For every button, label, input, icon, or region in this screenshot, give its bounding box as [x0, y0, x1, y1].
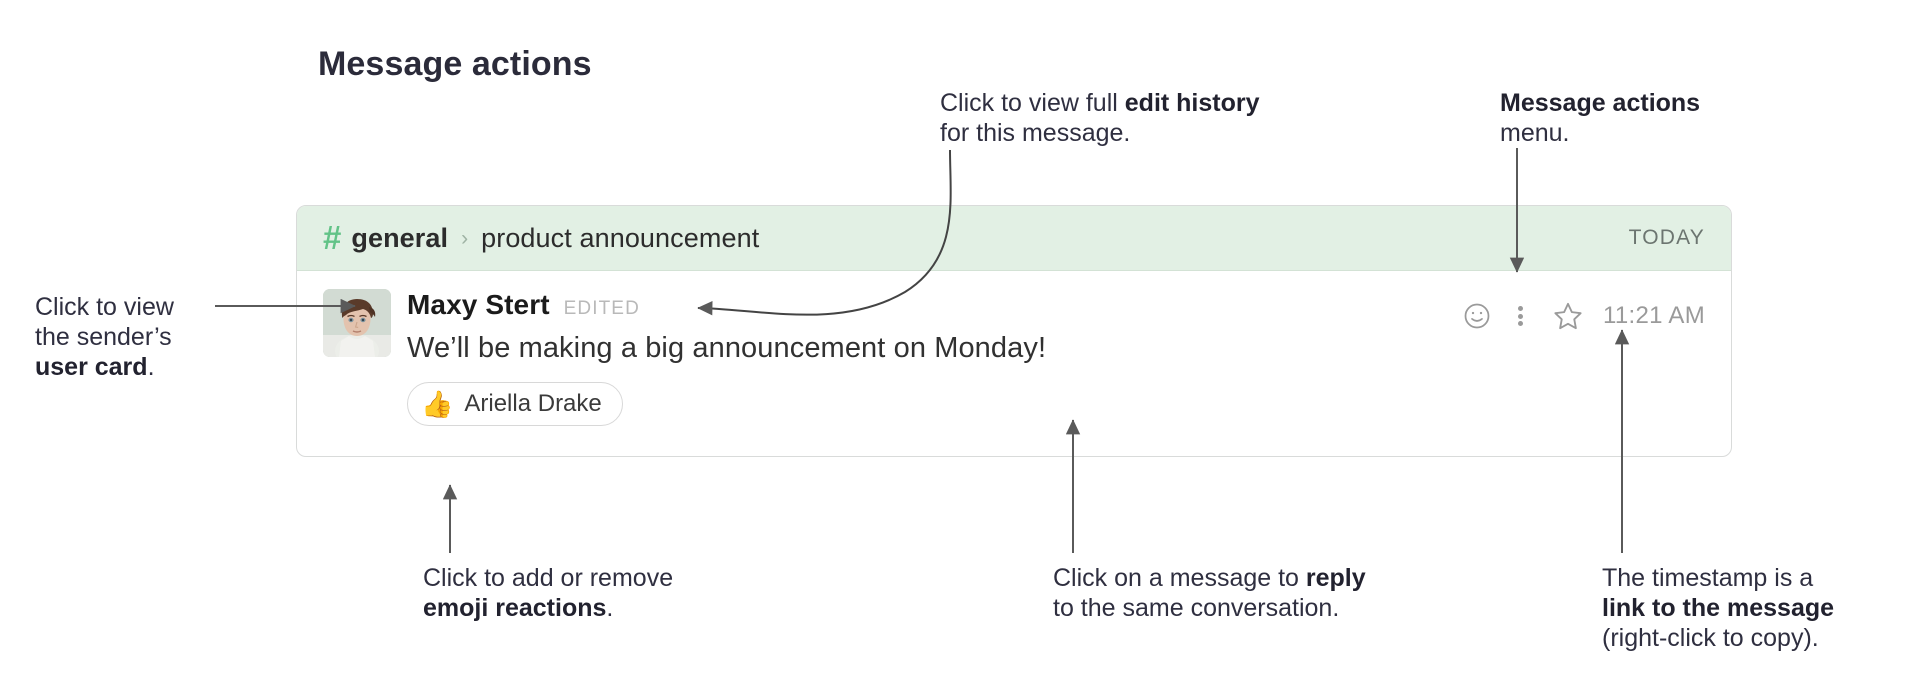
emoji-reactions-annotation: Click to add or remove emoji reactions.: [423, 563, 673, 623]
star-message-icon[interactable]: [1543, 298, 1593, 334]
actions-menu-line1-bold: Message actions: [1500, 89, 1700, 117]
user-card-line1: Click to view: [35, 292, 174, 322]
edit-history-annotation: Click to view full edit history for this…: [940, 88, 1260, 148]
hash-icon: #: [323, 221, 341, 254]
user-card-annotation: Click to view the sender’s user card.: [35, 292, 174, 382]
timestamp-line3: (right-click to copy).: [1602, 623, 1834, 653]
card-header: # general › product announcement TODAY: [297, 206, 1731, 271]
reply-line1-pre: Click on a message to: [1053, 564, 1306, 592]
dot: [1518, 321, 1523, 326]
user-card-line3-bold: user card: [35, 353, 148, 381]
topic-name[interactable]: product announcement: [481, 223, 759, 254]
timestamp-line2-bold: link to the message: [1602, 594, 1834, 622]
message-actions-icon[interactable]: [1499, 298, 1543, 334]
user-card-line2: the sender’s: [35, 322, 174, 352]
emoji-line1: Click to add or remove: [423, 563, 673, 593]
message-timestamp-link[interactable]: 11:21 AM: [1603, 302, 1705, 330]
edit-history-line2: for this message.: [940, 118, 1260, 148]
page-title: Message actions: [318, 45, 592, 84]
avatar[interactable]: [323, 289, 391, 357]
stream-name[interactable]: general: [351, 223, 448, 254]
message-row[interactable]: Maxy Stert EDITED We’ll be making a big …: [297, 271, 1731, 426]
emoji-reaction-pill[interactable]: 👍 Ariella Drake: [407, 382, 623, 426]
edited-label[interactable]: EDITED: [564, 298, 640, 320]
edit-history-line1-bold: edit history: [1125, 89, 1260, 117]
chevron-right-icon: ›: [461, 228, 468, 249]
date-label: TODAY: [1629, 226, 1705, 250]
edit-history-line1-pre: Click to view full: [940, 89, 1125, 117]
emoji-reaction-icon[interactable]: [1455, 298, 1499, 334]
dot: [1518, 306, 1523, 311]
message-controls: 11:21 AM: [1455, 298, 1705, 334]
message-card: # general › product announcement TODAY: [296, 205, 1732, 457]
timestamp-line1: The timestamp is a: [1602, 563, 1834, 593]
reaction-user-name: Ariella Drake: [464, 390, 601, 418]
emoji-line2-bold: emoji reactions: [423, 594, 606, 622]
annotated-screenshot: Message actions Click to view full edit …: [0, 0, 1924, 696]
reply-line2: to the same conversation.: [1053, 593, 1366, 623]
sender-name[interactable]: Maxy Stert: [407, 289, 550, 321]
reply-annotation: Click on a message to reply to the same …: [1053, 563, 1366, 623]
dot: [1518, 314, 1523, 319]
thumbs-up-emoji: 👍: [421, 391, 453, 417]
actions-menu-line2: menu.: [1500, 118, 1700, 148]
message-text[interactable]: We’ll be making a big announcement on Mo…: [407, 332, 1705, 365]
user-card-line3-post: .: [148, 353, 155, 381]
timestamp-annotation: The timestamp is a link to the message (…: [1602, 563, 1834, 653]
emoji-line2-post: .: [606, 594, 613, 622]
message-actions-menu-annotation: Message actions menu.: [1500, 88, 1700, 148]
reply-line1-bold: reply: [1306, 564, 1366, 592]
